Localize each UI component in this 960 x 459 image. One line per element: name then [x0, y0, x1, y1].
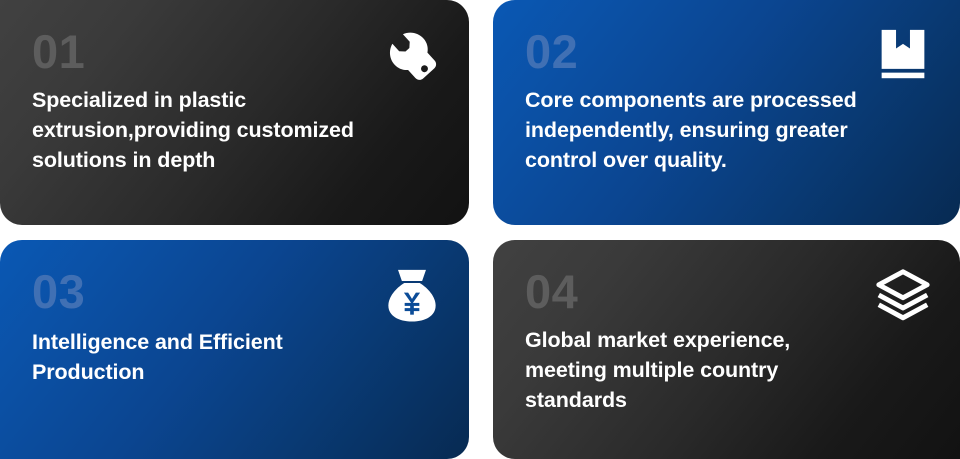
card-text-02: Core components are processed independen… [525, 85, 932, 175]
feature-card-03[interactable]: 03 Intelligence and Efficient Production [0, 240, 469, 459]
card-text-03: Intelligence and Efficient Production [32, 327, 441, 387]
card-number-01: 01 [32, 28, 441, 75]
card-text-04: Global market experience, meeting multip… [525, 325, 932, 415]
feature-card-01[interactable]: 01 Specialized in plastic extrusion,prov… [0, 0, 469, 225]
card-number-02: 02 [525, 28, 932, 75]
layers-icon [874, 266, 932, 324]
feature-card-grid: 01 Specialized in plastic extrusion,prov… [0, 0, 960, 459]
feature-card-04[interactable]: 04 Global market experience, meeting mul… [493, 240, 960, 459]
card-number-04: 04 [525, 268, 932, 315]
money-bag-yen-icon [383, 266, 441, 324]
book-bookmark-icon [874, 26, 932, 84]
wrench-icon [383, 26, 441, 84]
card-text-01: Specialized in plastic extrusion,providi… [32, 85, 441, 175]
feature-card-02[interactable]: 02 Core components are processed indepen… [493, 0, 960, 225]
card-number-03: 03 [32, 268, 441, 315]
